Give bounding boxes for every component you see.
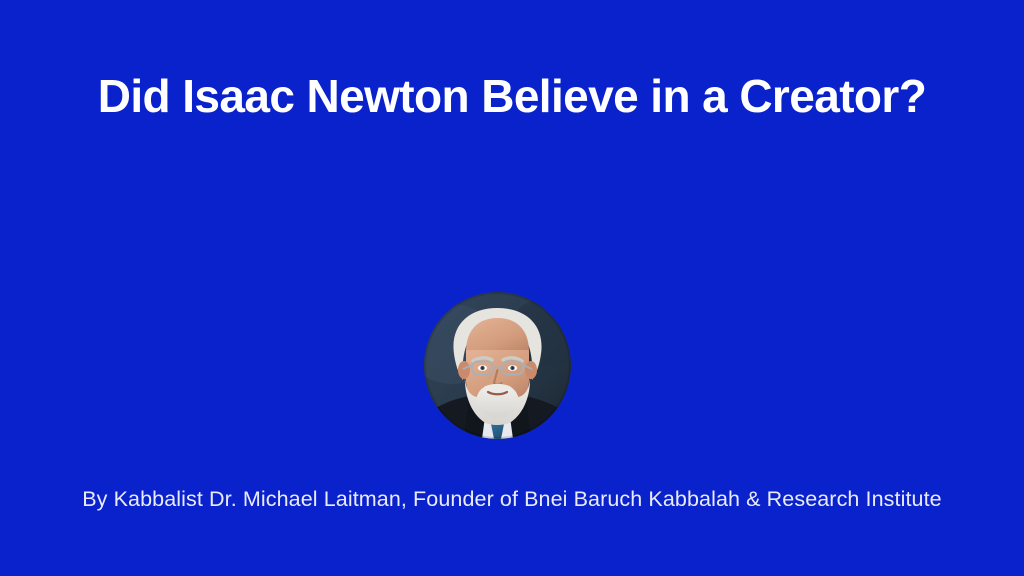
byline-container: By Kabbalist Dr. Michael Laitman, Founde… (0, 486, 1024, 513)
avatar (424, 292, 571, 439)
page-title: Did Isaac Newton Believe in a Creator? (98, 72, 926, 122)
author-byline: By Kabbalist Dr. Michael Laitman, Founde… (82, 486, 942, 513)
title-container: Did Isaac Newton Believe in a Creator? (0, 72, 1024, 122)
portrait-photo-icon (424, 292, 571, 439)
presentation-slide: Did Isaac Newton Believe in a Creator? (0, 0, 1024, 576)
